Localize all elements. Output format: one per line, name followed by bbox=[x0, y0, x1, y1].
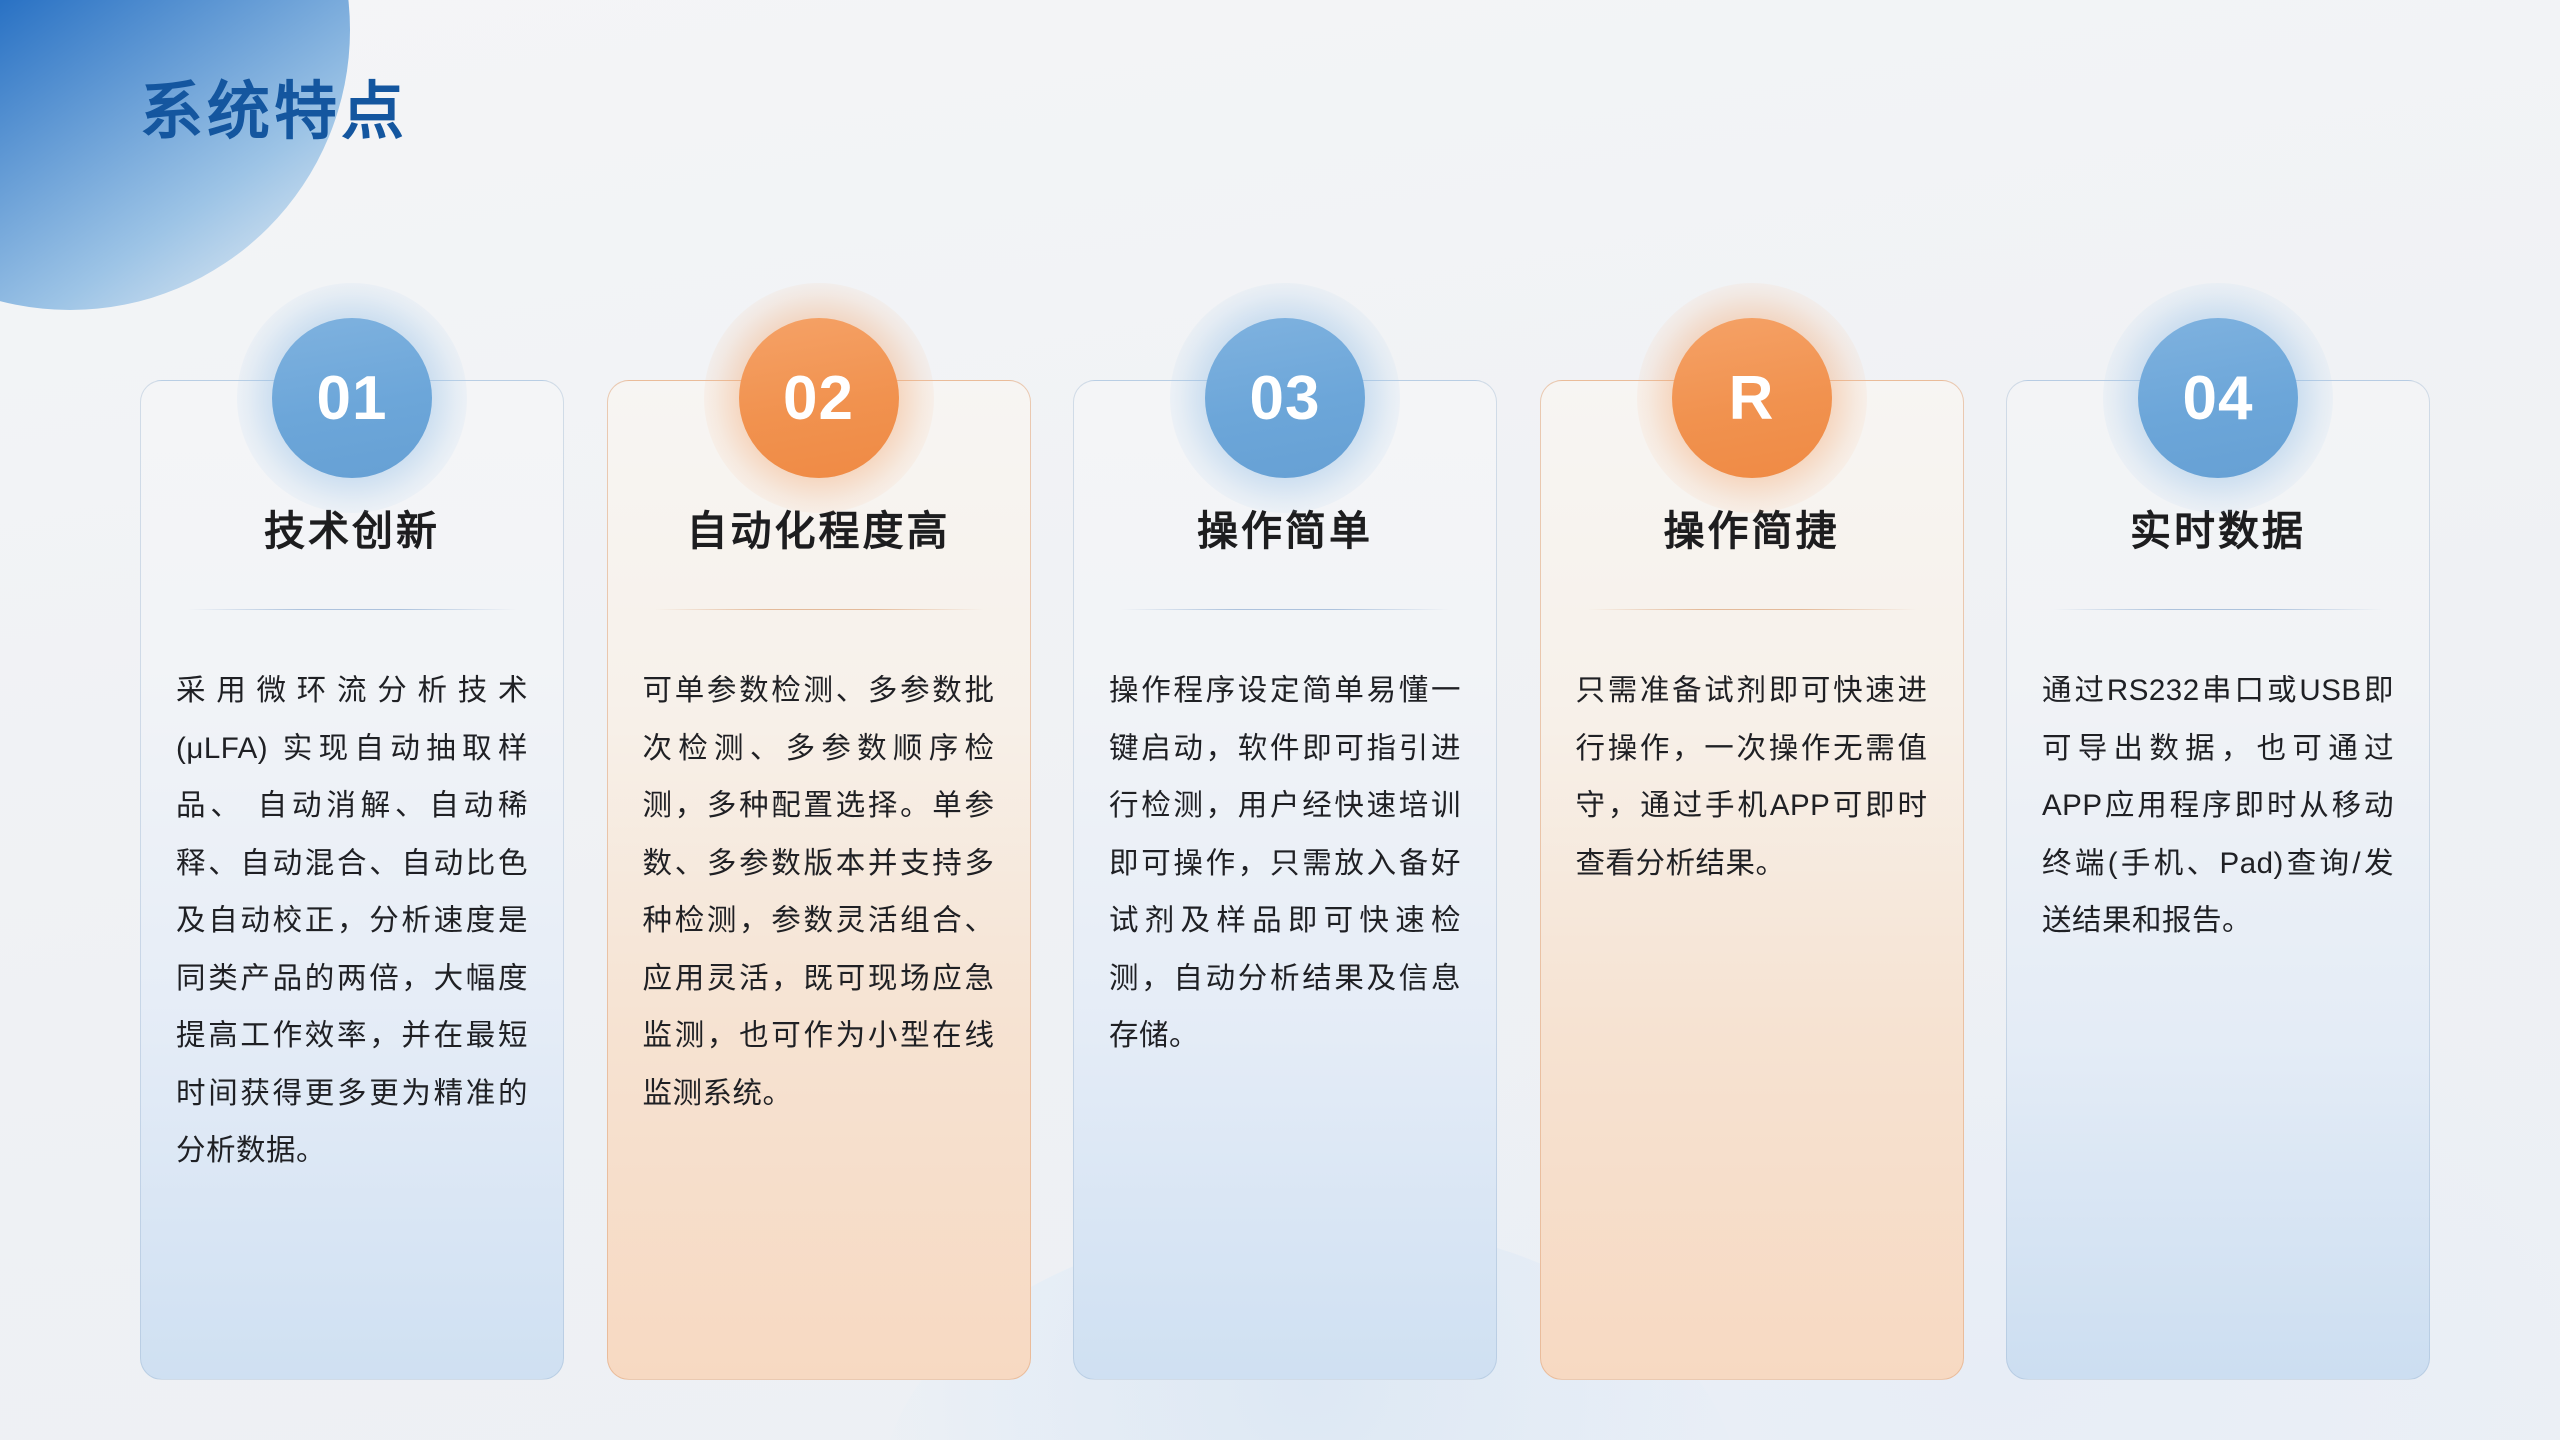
card-body: 可单参数检测、多参数批次检测、多参数顺序检测，多种配置选择。单参数、多参数版本并… bbox=[643, 662, 995, 1122]
title-divider bbox=[187, 609, 517, 610]
badge-number: 03 bbox=[1205, 318, 1365, 478]
feature-card-row: 01 技术创新 采用微环流分析技术 (μLFA) 实现自动抽取样品、 自动消解、… bbox=[140, 380, 2430, 1380]
badge-04: 04 bbox=[2103, 283, 2333, 513]
slide-canvas: 系统特点 01 技术创新 采用微环流分析技术 (μLFA) 实现自动抽取样品、 … bbox=[0, 0, 2560, 1440]
decorative-corner-circle bbox=[0, 0, 350, 310]
feature-card-r[interactable]: R 操作简捷 只需准备试剂即可快速进行操作，一次操作无需值守，通过手机APP可即… bbox=[1540, 380, 1964, 1380]
title-divider bbox=[1120, 609, 1450, 610]
page-title: 系统特点 bbox=[140, 78, 408, 147]
badge-letter: R bbox=[1672, 318, 1832, 478]
title-divider bbox=[1587, 609, 1917, 610]
badge-number: 01 bbox=[272, 318, 432, 478]
card-body: 只需准备试剂即可快速进行操作，一次操作无需值守，通过手机APP可即时查看分析结果… bbox=[1576, 662, 1928, 892]
feature-card-03[interactable]: 03 操作简单 操作程序设定简单易懂一键启动，软件即可指引进行检测，用户经快速培… bbox=[1073, 380, 1497, 1380]
card-body: 通过RS232串口或USB即可导出数据，也可通过APP应用程序即时从移动终端(手… bbox=[2042, 662, 2394, 950]
badge-01: 01 bbox=[237, 283, 467, 513]
title-divider bbox=[2053, 609, 2383, 610]
feature-card-01[interactable]: 01 技术创新 采用微环流分析技术 (μLFA) 实现自动抽取样品、 自动消解、… bbox=[140, 380, 564, 1380]
badge-03: 03 bbox=[1170, 283, 1400, 513]
feature-card-02[interactable]: 02 自动化程度高 可单参数检测、多参数批次检测、多参数顺序检测，多种配置选择。… bbox=[607, 380, 1031, 1380]
card-body: 操作程序设定简单易懂一键启动，软件即可指引进行检测，用户经快速培训即可操作，只需… bbox=[1109, 662, 1461, 1065]
title-divider bbox=[654, 609, 984, 610]
badge-02: 02 bbox=[704, 283, 934, 513]
badge-number: 02 bbox=[739, 318, 899, 478]
badge-r: R bbox=[1637, 283, 1867, 513]
card-body: 采用微环流分析技术 (μLFA) 实现自动抽取样品、 自动消解、自动稀释、自动混… bbox=[176, 662, 528, 1180]
feature-card-04[interactable]: 04 实时数据 通过RS232串口或USB即可导出数据，也可通过APP应用程序即… bbox=[2006, 380, 2430, 1380]
badge-number: 04 bbox=[2138, 318, 2298, 478]
